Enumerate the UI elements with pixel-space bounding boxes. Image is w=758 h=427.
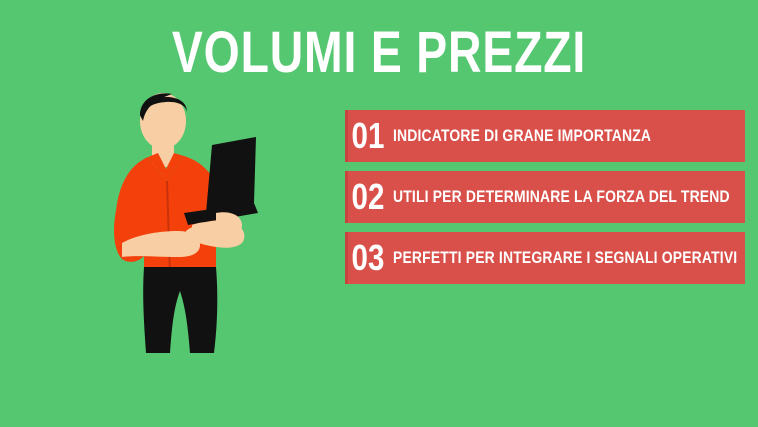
list-item-number: 01 xyxy=(345,118,384,154)
pants-shape xyxy=(143,267,217,353)
list-item-number: 03 xyxy=(345,240,384,276)
illustration-svg xyxy=(100,85,280,355)
list-item-number: 02 xyxy=(345,179,384,215)
laptop-screen-shape xyxy=(206,137,256,213)
list-item-label: INDICATORE DI GRANE IMPORTANZA xyxy=(393,127,682,145)
list-item[interactable]: 03 PERFETTI PER INTEGRARE I SEGNALI OPER… xyxy=(345,232,745,284)
list-item[interactable]: 02 UTILI PER DETERMINARE LA FORZA DEL TR… xyxy=(345,171,745,223)
slide-root: VOLUMI E PREZZI xyxy=(0,0,758,427)
page-title: VOLUMI E PREZZI xyxy=(76,24,682,82)
points-list: 01 INDICATORE DI GRANE IMPORTANZA 02 UTI… xyxy=(345,110,745,284)
man-holding-laptop-illustration xyxy=(100,85,280,355)
list-item-label: UTILI PER DETERMINARE LA FORZA DEL TREND xyxy=(393,188,730,206)
list-item[interactable]: 01 INDICATORE DI GRANE IMPORTANZA xyxy=(345,110,745,162)
list-item-label: PERFETTI PER INTEGRARE I SEGNALI OPERATI… xyxy=(393,249,737,267)
